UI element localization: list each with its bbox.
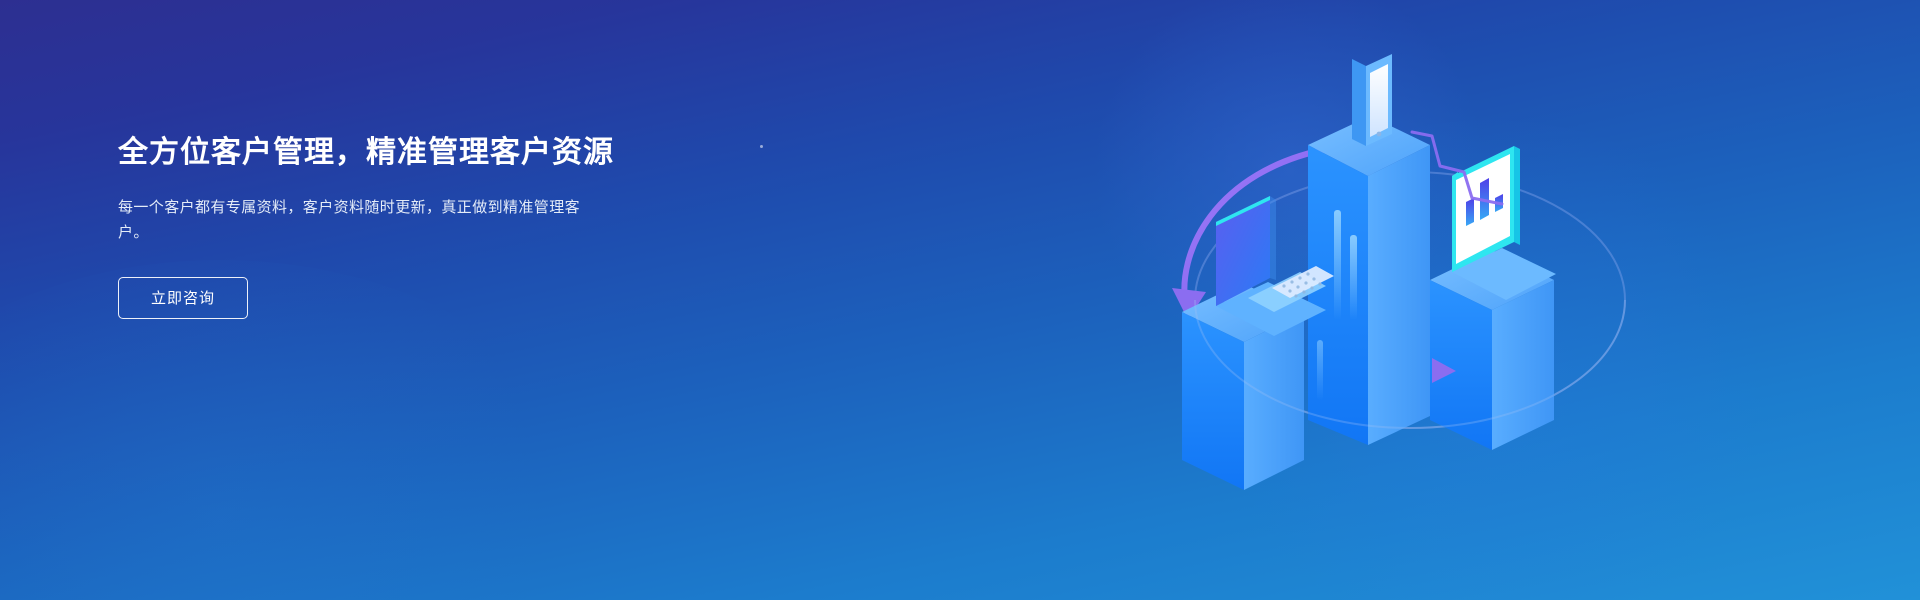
tablet-device [1352, 54, 1392, 146]
monitor-bar-chart [1452, 146, 1556, 300]
hero-banner: 全方位客户管理，精准管理客户资源 每一个客户都有专属资料，客户资料随时更新，真正… [0, 0, 1920, 600]
hero-copy-block: 全方位客户管理，精准管理客户资源 每一个客户都有专属资料，客户资料随时更新，真正… [118, 133, 758, 319]
page-title: 全方位客户管理，精准管理客户资源 [118, 133, 758, 173]
consult-now-button[interactable]: 立即咨询 [118, 277, 248, 319]
hero-subtitle: 每一个客户都有专属资料，客户资料随时更新，真正做到精准管理客户。 [118, 195, 598, 245]
pillar-center [1308, 116, 1430, 445]
hero-illustration [1120, 20, 1680, 580]
sparkle-dot-icon [760, 145, 763, 148]
